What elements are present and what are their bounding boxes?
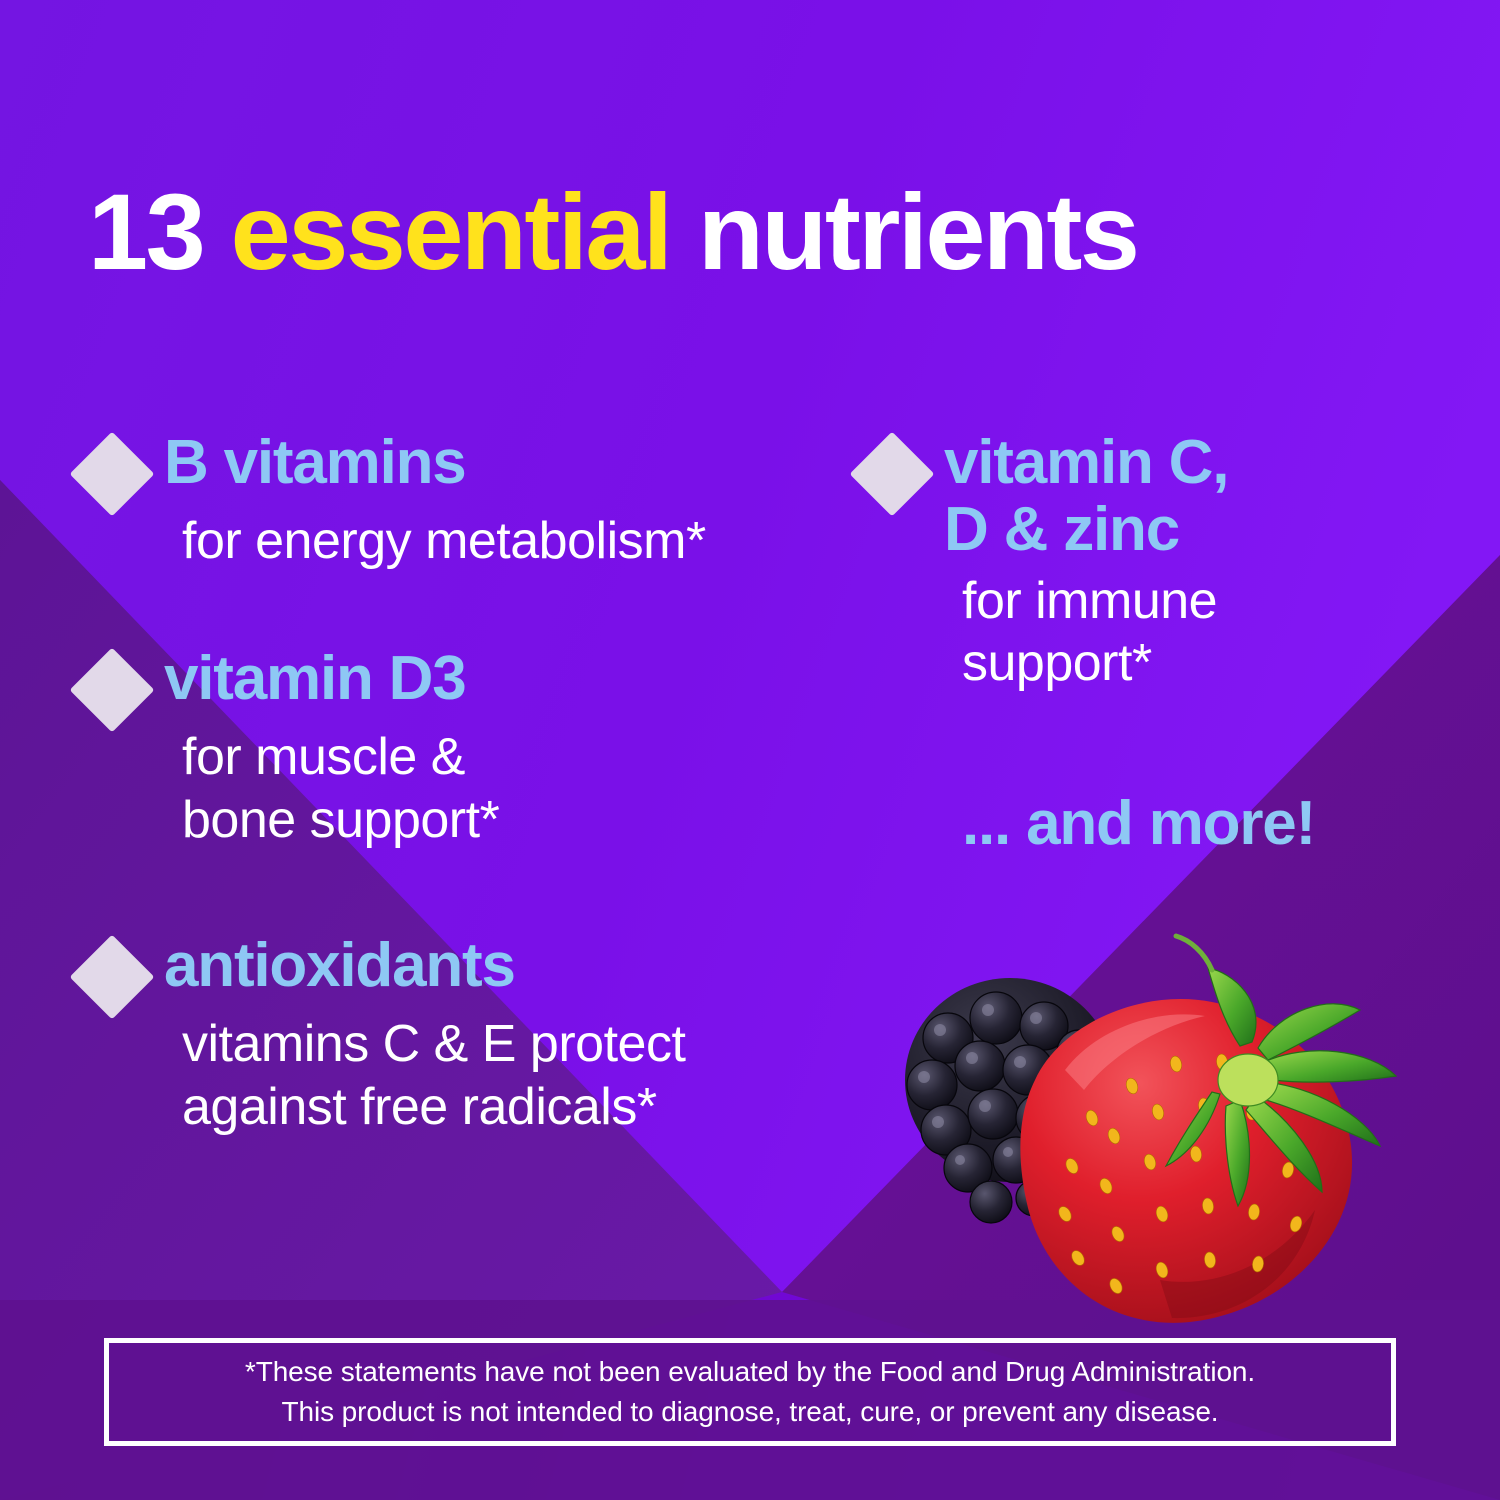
benefit-title-line: D & zinc [944,497,1228,564]
benefit-heading-row: B vitamins [82,430,852,504]
column-spacer [82,572,852,646]
benefit-item-vitamin-d3: vitamin D3 for muscle & bone support* [82,646,852,851]
benefit-item-antioxidants: antioxidants vitamins C & E protect agai… [82,933,852,1138]
benefit-subtitle-line: support* [962,632,1442,694]
headline-highlight: essential [231,171,671,292]
diamond-icon [70,648,155,733]
diamond-icon [70,935,155,1020]
fda-disclaimer-box: *These statements have not been evaluate… [104,1338,1396,1446]
column-spacer [82,851,852,933]
benefit-item-b-vitamins: B vitamins for energy metabolism* [82,430,852,572]
benefit-heading-row: vitamin C, D & zinc [862,430,1442,564]
and-more-label: ... and more! [962,791,1442,858]
benefit-heading-row: vitamin D3 [82,646,852,720]
benefit-subtitle-line: for energy metabolism* [182,510,852,572]
diamond-icon [850,432,935,517]
product-infographic-poster: 13 essential nutrients B vitamins for en… [0,0,1500,1500]
disclaimer-line-1: *These statements have not been evaluate… [245,1352,1255,1392]
column-spacer [862,695,1442,791]
benefit-subtitle-line: for muscle & [182,726,852,788]
benefit-title: antioxidants [164,933,515,1000]
page-title: 13 essential nutrients [88,178,1137,286]
benefit-item-vitamin-c-d-zinc: vitamin C, D & zinc for immune support* [862,430,1442,695]
benefit-title: vitamin D3 [164,646,466,713]
headline-count: 13 [88,171,231,292]
headline-noun: nutrients [670,171,1137,292]
benefit-subtitle-line: for immune [962,570,1442,632]
benefit-subtitle-line: vitamins C & E protect [182,1013,852,1075]
benefit-title-line: vitamin C, [944,430,1228,497]
benefit-title: B vitamins [164,430,466,497]
benefit-heading-row: antioxidants [82,933,852,1007]
disclaimer-line-2: This product is not intended to diagnose… [282,1392,1219,1432]
benefit-subtitle-line: against free radicals* [182,1076,852,1138]
diamond-icon [70,432,155,517]
benefits-column-right: vitamin C, D & zinc for immune support* … [862,430,1442,858]
strawberry-stem-icon [1176,936,1212,970]
benefit-subtitle-line: bone support* [182,789,852,851]
strawberry-and-blackberry-image [860,930,1420,1330]
benefits-column-left: B vitamins for energy metabolism* vitami… [82,430,852,1138]
